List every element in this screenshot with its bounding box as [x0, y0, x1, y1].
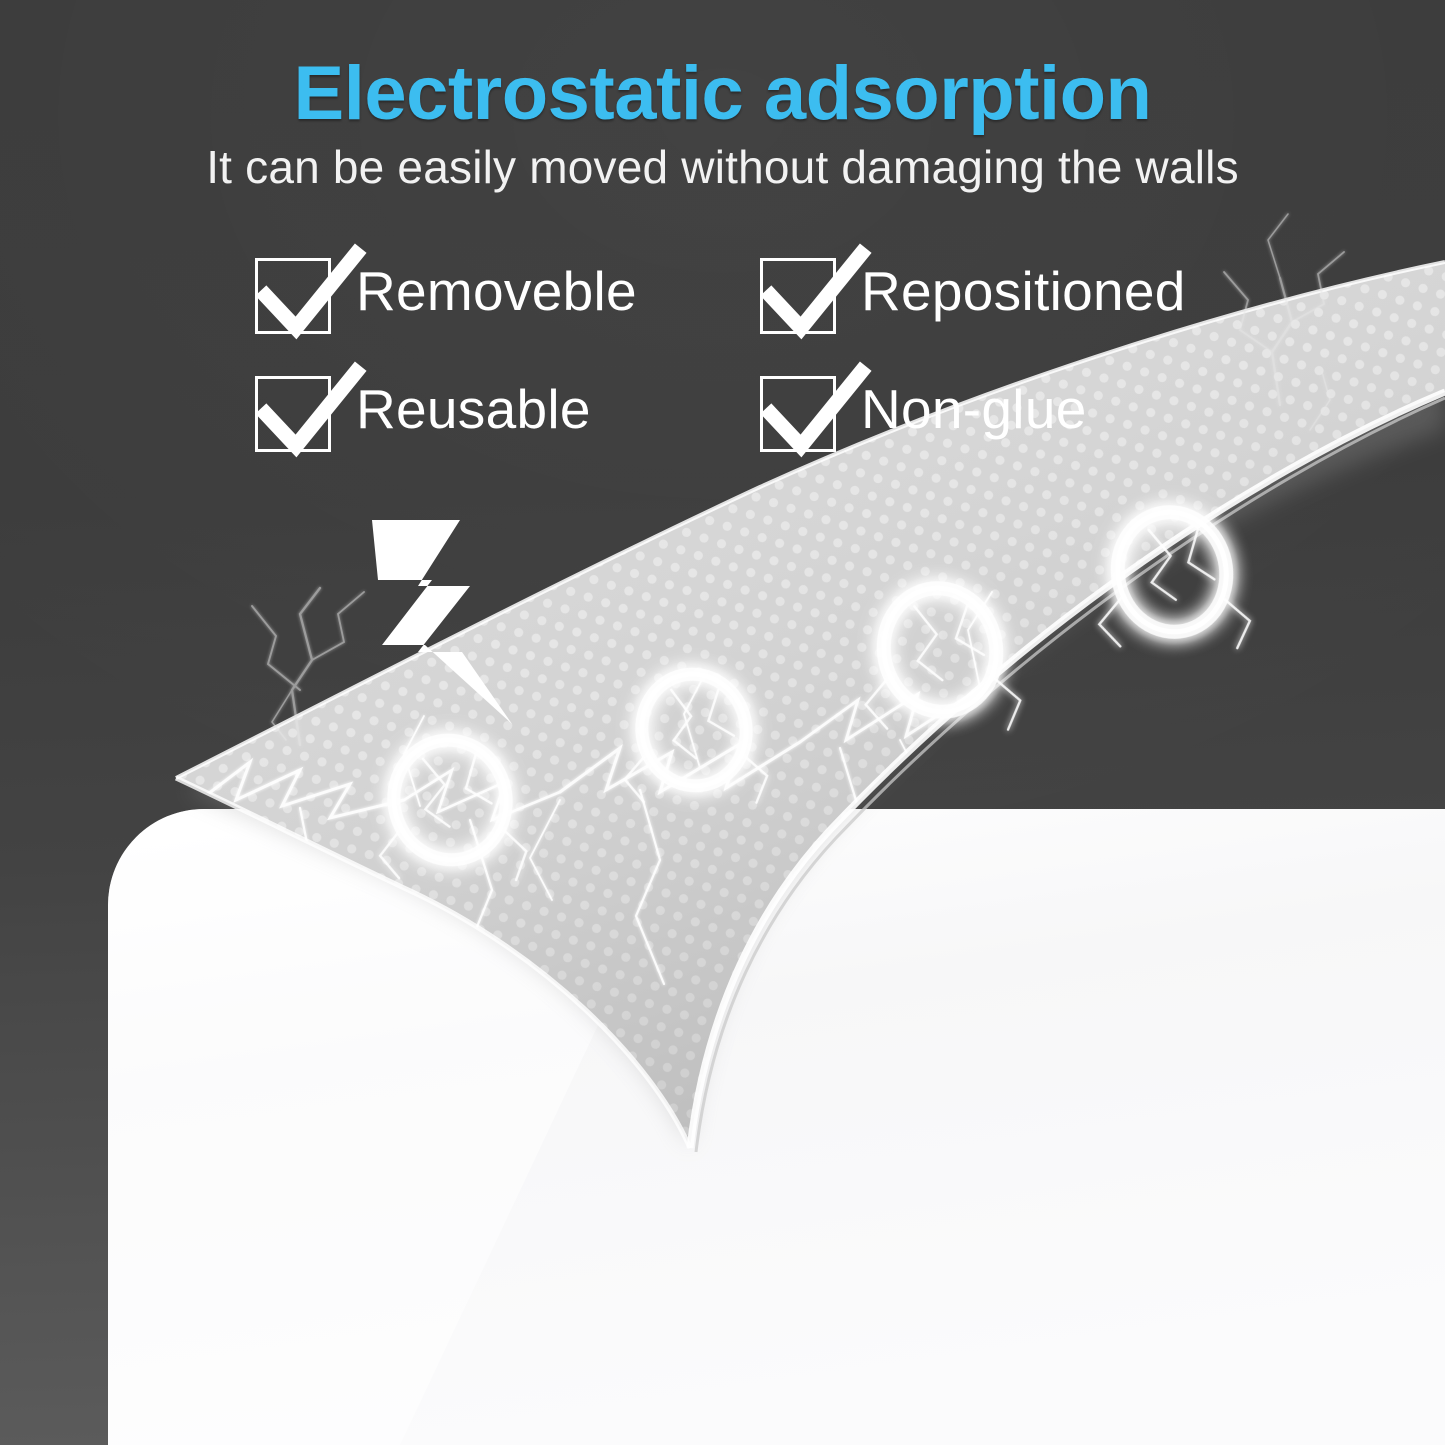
checkbox-checked-icon	[757, 368, 843, 454]
checkbox-checked-icon	[252, 250, 338, 336]
feature-checklist: Removeble Repositioned Reusable	[252, 248, 1252, 484]
feature-item-non-glue: Non-glue	[757, 366, 1252, 454]
checkbox-checked-icon	[757, 250, 843, 336]
page-title: Electrostatic adsorption	[0, 50, 1445, 137]
peeled-sheet-illustration	[0, 0, 1445, 1445]
feature-item-reusable: Reusable	[252, 366, 757, 454]
feature-label: Non-glue	[861, 366, 1087, 452]
checkbox-checked-icon	[252, 368, 338, 454]
feature-label: Removeble	[356, 248, 637, 334]
feature-item-removeble: Removeble	[252, 248, 757, 336]
promo-graphic: Electrostatic adsorption It can be easil…	[0, 0, 1445, 1445]
feature-item-repositioned: Repositioned	[757, 248, 1252, 336]
feature-label: Reusable	[356, 366, 591, 452]
feature-label: Repositioned	[861, 248, 1186, 334]
page-subtitle: It can be easily moved without damaging …	[0, 140, 1445, 194]
